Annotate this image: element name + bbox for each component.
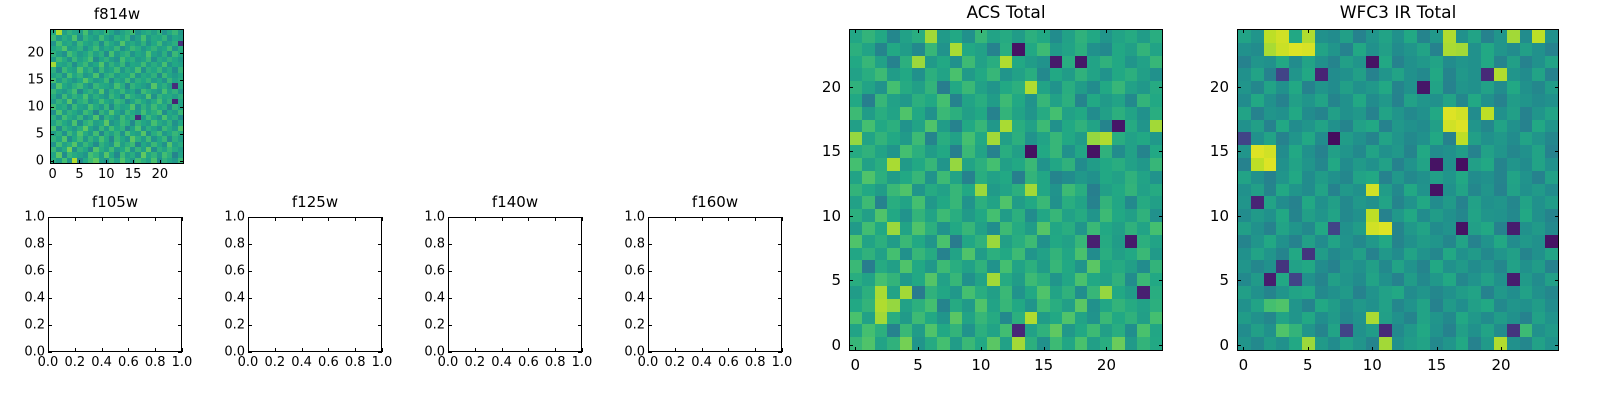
y-tick: [1237, 280, 1241, 281]
y-tick: [1237, 151, 1241, 152]
x-tick-label: 0.2: [664, 355, 685, 370]
axis-ticks-f125w: 0.00.20.40.60.81.00.00.20.40.60.81.0: [248, 217, 382, 352]
y-tick: [448, 244, 452, 245]
x-tick: [160, 160, 161, 164]
panel-title-acs-total: ACS Total: [849, 3, 1163, 23]
x-tick: [106, 160, 107, 164]
y-tick: [578, 217, 582, 218]
x-tick-label: 0: [1239, 356, 1249, 374]
y-tick-label: 0: [831, 336, 841, 354]
y-tick: [1555, 151, 1559, 152]
axes-wfc3-ir-total: WFC3 IR Total 0510152005101520: [1237, 29, 1559, 351]
x-tick: [182, 348, 183, 352]
x-tick: [1308, 347, 1309, 351]
panel-title-f160w: f160w: [648, 193, 782, 211]
y-tick-label: 1.0: [224, 210, 245, 225]
y-tick: [1555, 216, 1559, 217]
x-tick: [1437, 29, 1438, 33]
y-tick-label: 20: [27, 46, 44, 61]
x-tick: [1106, 347, 1107, 351]
y-tick: [648, 271, 652, 272]
axes-acs-total: ACS Total 0510152005101520: [849, 29, 1163, 351]
y-tick: [248, 244, 252, 245]
x-tick: [102, 217, 103, 221]
y-tick: [1555, 87, 1559, 88]
axes-f140w: f140w 0.00.20.40.60.81.00.00.20.40.60.81…: [448, 217, 582, 352]
x-tick: [75, 348, 76, 352]
x-tick: [182, 217, 183, 221]
y-tick-label: 0: [36, 154, 44, 169]
panel-title-f140w: f140w: [448, 193, 582, 211]
y-tick: [1159, 280, 1163, 281]
x-tick: [755, 217, 756, 221]
y-tick: [778, 271, 782, 272]
y-tick: [378, 217, 382, 218]
x-tick-label: 0.6: [718, 355, 739, 370]
x-tick: [302, 348, 303, 352]
x-tick-label: 1.0: [772, 355, 793, 370]
y-tick: [1159, 87, 1163, 88]
y-tick-label: 0.2: [224, 318, 245, 333]
y-tick: [248, 271, 252, 272]
x-tick-label: 5: [75, 167, 83, 182]
x-tick-label: 0.8: [545, 355, 566, 370]
y-tick: [448, 325, 452, 326]
axis-ticks-f105w: 0.00.20.40.60.81.00.00.20.40.60.81.0: [48, 217, 182, 352]
x-tick: [382, 217, 383, 221]
y-tick-label: 0.0: [224, 345, 245, 360]
y-tick: [778, 244, 782, 245]
y-tick: [378, 298, 382, 299]
x-tick: [1106, 29, 1107, 33]
x-tick: [782, 348, 783, 352]
x-tick-label: 0.4: [691, 355, 712, 370]
x-tick: [155, 348, 156, 352]
x-tick-label: 5: [1303, 356, 1313, 374]
y-tick-label: 0.0: [624, 345, 645, 360]
y-tick: [178, 271, 182, 272]
x-tick: [1044, 29, 1045, 33]
y-tick-label: 0.4: [424, 291, 445, 306]
y-tick-label: 0.0: [24, 345, 45, 360]
x-tick: [1501, 29, 1502, 33]
y-tick: [448, 298, 452, 299]
x-tick-label: 0.6: [518, 355, 539, 370]
x-tick-label: 10: [98, 167, 115, 182]
panel-title-f125w: f125w: [248, 193, 382, 211]
y-tick: [1237, 345, 1241, 346]
x-tick: [275, 217, 276, 221]
panel-title-f105w: f105w: [48, 193, 182, 211]
x-tick: [133, 29, 134, 33]
y-tick: [48, 298, 52, 299]
x-tick-label: 0.6: [318, 355, 339, 370]
x-tick: [382, 348, 383, 352]
x-tick: [53, 29, 54, 33]
y-tick: [578, 244, 582, 245]
x-tick-label: 0: [49, 167, 57, 182]
x-tick: [79, 29, 80, 33]
x-tick: [79, 160, 80, 164]
x-tick-label: 0.8: [745, 355, 766, 370]
y-tick: [849, 280, 853, 281]
y-tick-label: 0.8: [624, 237, 645, 252]
y-tick: [180, 107, 184, 108]
y-tick: [48, 244, 52, 245]
x-tick-label: 20: [1491, 356, 1510, 374]
x-tick-label: 10: [1363, 356, 1382, 374]
y-tick-label: 15: [27, 73, 44, 88]
matplotlib-figure: f814w 0510152005101520 f105w 0.00.20.40.…: [0, 0, 1600, 400]
x-tick-label: 10: [971, 356, 990, 374]
x-tick: [755, 348, 756, 352]
y-tick: [648, 352, 652, 353]
x-tick-label: 15: [1427, 356, 1446, 374]
y-tick-label: 5: [1219, 271, 1229, 289]
x-tick-label: 5: [913, 356, 923, 374]
x-tick-label: 0.2: [64, 355, 85, 370]
y-tick: [849, 87, 853, 88]
y-tick: [648, 298, 652, 299]
y-tick-label: 0.4: [224, 291, 245, 306]
y-tick: [248, 325, 252, 326]
y-tick-label: 5: [831, 271, 841, 289]
x-tick: [918, 347, 919, 351]
x-tick-label: 1.0: [172, 355, 193, 370]
y-tick: [1555, 345, 1559, 346]
y-tick: [1159, 151, 1163, 152]
panel-title-wfc3-ir-total: WFC3 IR Total: [1237, 3, 1559, 23]
x-tick: [981, 29, 982, 33]
y-tick: [778, 298, 782, 299]
y-tick: [180, 80, 184, 81]
y-tick: [1159, 345, 1163, 346]
axis-ticks-acs-total: 0510152005101520: [849, 29, 1163, 351]
y-tick: [578, 325, 582, 326]
y-tick: [1555, 280, 1559, 281]
x-tick: [475, 348, 476, 352]
y-tick: [50, 80, 54, 81]
x-tick: [855, 29, 856, 33]
y-tick: [578, 352, 582, 353]
y-tick: [849, 216, 853, 217]
x-tick: [502, 217, 503, 221]
y-tick: [849, 345, 853, 346]
x-tick: [328, 217, 329, 221]
x-tick: [1243, 347, 1244, 351]
x-tick-label: 1.0: [572, 355, 593, 370]
y-tick: [48, 325, 52, 326]
y-tick-label: 0.2: [24, 318, 45, 333]
x-tick: [502, 348, 503, 352]
y-tick: [248, 298, 252, 299]
y-tick-label: 0.6: [24, 264, 45, 279]
y-tick-label: 0.2: [424, 318, 445, 333]
y-tick-label: 0.6: [624, 264, 645, 279]
axes-f125w: f125w 0.00.20.40.60.81.00.00.20.40.60.81…: [248, 217, 382, 352]
x-tick: [1308, 29, 1309, 33]
x-tick-label: 1.0: [372, 355, 393, 370]
x-tick-label: 15: [125, 167, 142, 182]
y-tick: [448, 352, 452, 353]
y-tick: [248, 352, 252, 353]
axis-ticks-f814w: 0510152005101520: [50, 29, 184, 164]
x-tick: [1372, 347, 1373, 351]
axes-f105w: f105w 0.00.20.40.60.81.00.00.20.40.60.81…: [48, 217, 182, 352]
x-tick-label: 0.4: [491, 355, 512, 370]
y-tick-label: 1.0: [24, 210, 45, 225]
x-tick: [728, 217, 729, 221]
x-tick: [555, 217, 556, 221]
x-tick: [702, 348, 703, 352]
y-tick: [1159, 216, 1163, 217]
x-tick-label: 20: [1097, 356, 1116, 374]
y-tick-label: 1.0: [424, 210, 445, 225]
x-tick: [128, 217, 129, 221]
x-tick: [128, 348, 129, 352]
x-tick: [133, 160, 134, 164]
x-tick: [728, 348, 729, 352]
y-tick: [1237, 87, 1241, 88]
x-tick: [1372, 29, 1373, 33]
y-tick-label: 15: [1210, 142, 1229, 160]
y-tick: [448, 271, 452, 272]
y-tick-label: 20: [1210, 78, 1229, 96]
y-tick: [48, 217, 52, 218]
y-tick: [778, 352, 782, 353]
y-tick: [48, 352, 52, 353]
y-tick: [178, 352, 182, 353]
x-tick: [1437, 347, 1438, 351]
y-tick-label: 10: [822, 207, 841, 225]
x-tick: [328, 348, 329, 352]
x-tick: [528, 217, 529, 221]
y-tick-label: 20: [822, 78, 841, 96]
x-tick-label: 20: [152, 167, 169, 182]
y-tick: [178, 244, 182, 245]
y-tick-label: 1.0: [624, 210, 645, 225]
y-tick-label: 0.8: [24, 237, 45, 252]
x-tick: [981, 347, 982, 351]
y-tick: [180, 134, 184, 135]
y-tick: [178, 298, 182, 299]
y-tick-label: 0.0: [424, 345, 445, 360]
x-tick: [675, 348, 676, 352]
x-tick: [675, 217, 676, 221]
x-tick: [582, 348, 583, 352]
y-tick: [50, 161, 54, 162]
axis-ticks-f140w: 0.00.20.40.60.81.00.00.20.40.60.81.0: [448, 217, 582, 352]
x-tick: [302, 217, 303, 221]
x-tick: [555, 348, 556, 352]
x-tick: [75, 217, 76, 221]
x-tick: [475, 217, 476, 221]
y-tick: [378, 325, 382, 326]
x-tick: [528, 348, 529, 352]
y-tick: [578, 271, 582, 272]
axes-f160w: f160w 0.00.20.40.60.81.00.00.20.40.60.81…: [648, 217, 782, 352]
x-tick: [155, 217, 156, 221]
y-tick: [849, 151, 853, 152]
y-tick: [178, 217, 182, 218]
x-tick: [355, 348, 356, 352]
x-tick: [160, 29, 161, 33]
y-tick: [178, 325, 182, 326]
y-tick-label: 5: [36, 127, 44, 142]
x-tick-label: 0.2: [264, 355, 285, 370]
x-tick: [702, 217, 703, 221]
x-tick-label: 0: [850, 356, 860, 374]
x-tick: [582, 217, 583, 221]
y-tick-label: 15: [822, 142, 841, 160]
y-tick: [180, 53, 184, 54]
y-tick: [778, 325, 782, 326]
axis-ticks-f160w: 0.00.20.40.60.81.00.00.20.40.60.81.0: [648, 217, 782, 352]
y-tick: [378, 271, 382, 272]
y-tick: [648, 244, 652, 245]
x-tick-label: 0.6: [118, 355, 139, 370]
x-tick: [275, 348, 276, 352]
y-tick: [50, 107, 54, 108]
y-tick-label: 0.8: [224, 237, 245, 252]
y-tick: [448, 217, 452, 218]
x-tick-label: 0.4: [291, 355, 312, 370]
x-tick: [102, 348, 103, 352]
x-tick-label: 0.8: [145, 355, 166, 370]
y-tick: [378, 244, 382, 245]
x-tick: [782, 217, 783, 221]
y-tick-label: 0.6: [224, 264, 245, 279]
y-tick-label: 0.2: [624, 318, 645, 333]
x-tick: [355, 217, 356, 221]
x-tick: [1501, 347, 1502, 351]
x-tick-label: 15: [1034, 356, 1053, 374]
y-tick-label: 0.8: [424, 237, 445, 252]
y-tick-label: 10: [27, 100, 44, 115]
x-tick: [855, 347, 856, 351]
x-tick: [1243, 29, 1244, 33]
y-tick: [778, 217, 782, 218]
x-tick-label: 0.8: [345, 355, 366, 370]
y-tick: [50, 53, 54, 54]
x-tick-label: 0.4: [91, 355, 112, 370]
x-tick: [106, 29, 107, 33]
panel-title-f814w: f814w: [50, 5, 184, 23]
y-tick: [1237, 216, 1241, 217]
x-tick: [1044, 347, 1045, 351]
y-tick: [648, 325, 652, 326]
y-tick: [48, 271, 52, 272]
y-tick-label: 0: [1219, 336, 1229, 354]
x-tick-label: 0.2: [464, 355, 485, 370]
y-tick: [378, 352, 382, 353]
y-tick: [180, 161, 184, 162]
y-tick-label: 10: [1210, 207, 1229, 225]
y-tick: [248, 217, 252, 218]
y-tick-label: 0.6: [424, 264, 445, 279]
y-tick: [578, 298, 582, 299]
y-tick: [648, 217, 652, 218]
y-tick-label: 0.4: [624, 291, 645, 306]
x-tick: [918, 29, 919, 33]
y-tick-label: 0.4: [24, 291, 45, 306]
y-tick: [50, 134, 54, 135]
axes-f814w: f814w 0510152005101520: [50, 29, 184, 164]
axis-ticks-wfc3-ir-total: 0510152005101520: [1237, 29, 1559, 351]
